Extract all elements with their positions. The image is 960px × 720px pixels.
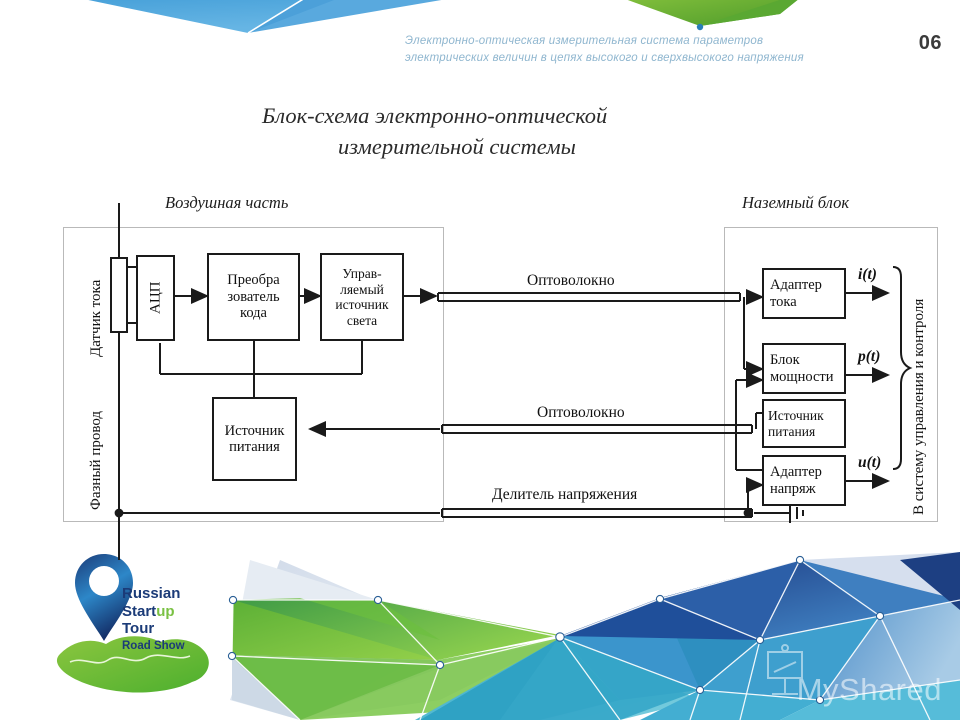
node-light-source-line3: источник (335, 297, 388, 313)
logo-line-3: Tour (122, 620, 185, 638)
label-to-control-system: В систему управления и контроля (911, 240, 928, 515)
logo-line-2b: up (156, 603, 174, 620)
node-voltage-adapter[interactable]: Адаптер напряж (762, 455, 846, 506)
node-power-block[interactable]: Блок мощности (762, 343, 846, 394)
node-light-source-line2: ляемый (340, 282, 384, 298)
node-adc[interactable]: АЦП (136, 255, 175, 341)
signal-label-current: i(t) (858, 266, 877, 284)
node-current-adapter-line1: Адаптер (770, 277, 822, 294)
node-code-converter-line2: зователь (227, 289, 279, 306)
node-ground-power-line2: питания (768, 424, 815, 440)
logo-line-2a: Start (122, 603, 156, 620)
node-code-converter[interactable]: Преобра зователь кода (207, 253, 300, 341)
logo-line-1: Russian (122, 585, 185, 603)
node-current-adapter[interactable]: Адаптер тока (762, 268, 846, 319)
signal-label-power: p(t) (858, 348, 880, 366)
label-current-sensor: Датчик тока (88, 247, 105, 357)
node-air-power-supply[interactable]: Источник питания (212, 397, 297, 481)
node-ground-power-line1: Источник (768, 408, 824, 424)
node-air-power-line2: питания (229, 439, 280, 456)
label-fiber-top: Оптоволокно (527, 272, 615, 290)
node-power-block-line1: Блок (770, 352, 800, 369)
node-controlled-light-source[interactable]: Управ- ляемый источник света (320, 253, 404, 341)
node-current-adapter-line2: тока (770, 294, 797, 311)
signal-label-voltage: u(t) (858, 454, 881, 472)
node-voltage-adapter-line2: напряж (770, 481, 816, 498)
node-light-source-line1: Управ- (342, 266, 381, 282)
label-voltage-divider: Делитель напряжения (492, 486, 637, 504)
label-fiber-mid: Оптоволокно (537, 404, 625, 422)
node-code-converter-line1: Преобра (227, 272, 279, 289)
russian-startup-tour-logo: Russian Startup Tour Road Show (122, 585, 185, 655)
node-power-block-line2: мощности (770, 369, 834, 386)
slide-canvas: Электронно-оптическая измерительная сист… (0, 0, 960, 720)
logo-line-4: Road Show (122, 638, 185, 656)
node-air-power-line1: Источник (225, 423, 285, 440)
node-light-source-line4: света (347, 313, 377, 329)
label-phase-wire: Фазный провод (88, 370, 105, 510)
node-voltage-adapter-line1: Адаптер (770, 464, 822, 481)
node-code-converter-line3: кода (240, 305, 267, 322)
current-sensor-box (110, 257, 128, 333)
node-ground-power-supply[interactable]: Источник питания (762, 399, 846, 448)
